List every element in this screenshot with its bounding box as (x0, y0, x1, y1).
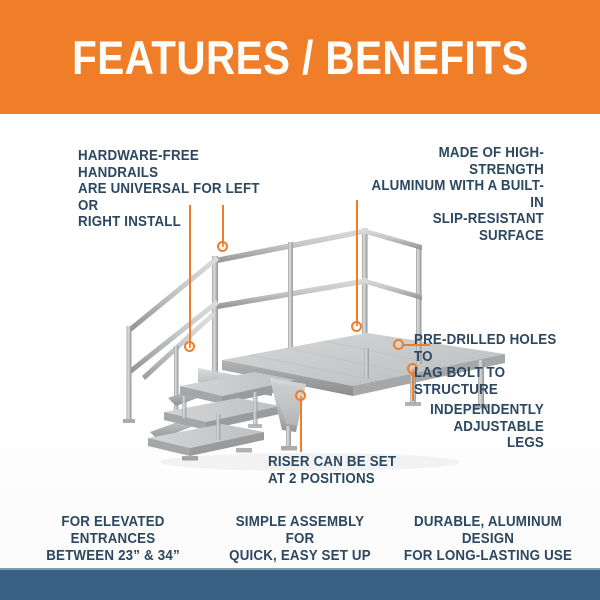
callout-marker-predrilled (393, 339, 404, 350)
callout-marker-deck (351, 321, 362, 332)
callout-marker-riser (295, 390, 306, 401)
footer-bar (0, 568, 600, 600)
page-title: FEATURES / BENEFITS (72, 34, 529, 81)
callout-marker-handrail-upper (217, 241, 228, 252)
leader-line-riser (300, 396, 302, 452)
leader-line-aluminum (356, 200, 358, 326)
infographic-canvas: FEATURES / BENEFITS (0, 0, 600, 600)
callout-adjustable-legs: INDEPENDENTLY ADJUSTABLE LEGS (360, 402, 544, 452)
callout-marker-handrail-lower (184, 341, 195, 352)
header-banner: FEATURES / BENEFITS (0, 0, 600, 114)
callout-aluminum: MADE OF HIGH-STRENGTH ALUMINUM WITH A BU… (367, 145, 544, 244)
callout-pre-drilled-holes: PRE-DRILLED HOLES TO LAG BOLT TO STRUCTU… (414, 332, 576, 398)
footnote-durable-design: DURABLE, ALUMINUM DESIGN FOR LONG-LASTIN… (400, 514, 577, 565)
callout-riser-positions: RISER CAN BE SET AT 2 POSITIONS (268, 454, 397, 487)
footnote-elevated-entrances: FOR ELEVATED ENTRANCES BETWEEN 23” & 34” (26, 514, 201, 565)
callout-handrails: HARDWARE-FREE HANDRAILS ARE UNIVERSAL FO… (78, 148, 280, 231)
footer-bar-highlight (0, 568, 600, 570)
footnote-simple-assembly: SIMPLE ASSEMBLY FOR QUICK, EASY SET UP (221, 514, 379, 565)
